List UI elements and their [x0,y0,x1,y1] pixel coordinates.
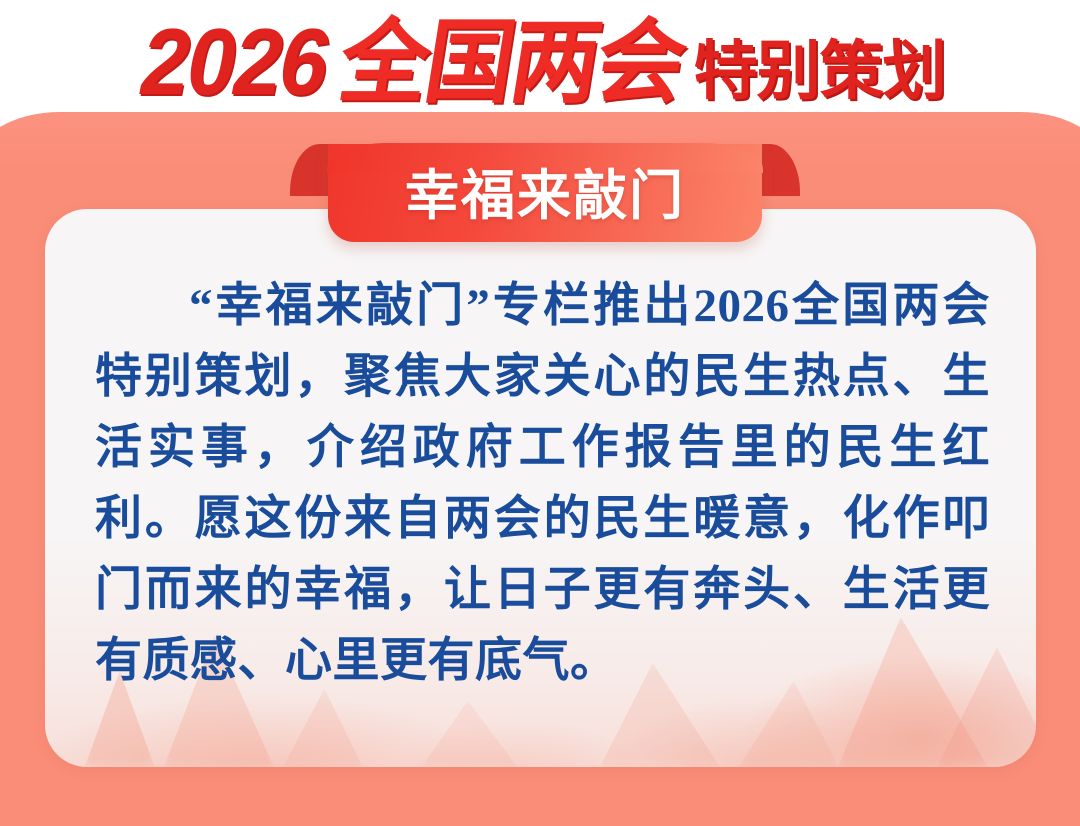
mountain-peak [283,689,363,767]
poster-header: 2026 全国两会 特别策划 [0,0,1080,120]
ribbon-label: 幸福来敲门 [405,169,685,223]
card-body-text: “幸福来敲门”专栏推出2026全国两会特别策划，聚焦大家关心的民生热点、生活实事… [95,271,990,697]
header-subtitle: 特别策划 [694,41,946,102]
header-main-title: 全国两会 [334,21,689,106]
header-title-group: 2026 全国两会 特别策划 [134,19,945,105]
ribbon-banner: 幸福来敲门 [290,140,800,244]
poster-root: 2026 全国两会 特别策划 “幸福来敲门”专栏推出2026全国两会特别策划，聚… [0,0,1080,826]
header-year: 2026 [134,19,336,105]
content-card: “幸福来敲门”专栏推出2026全国两会特别策划，聚焦大家关心的民生热点、生活实事… [45,209,1036,767]
ribbon-body: 幸福来敲门 [328,144,762,242]
mountain-peak [422,701,518,767]
